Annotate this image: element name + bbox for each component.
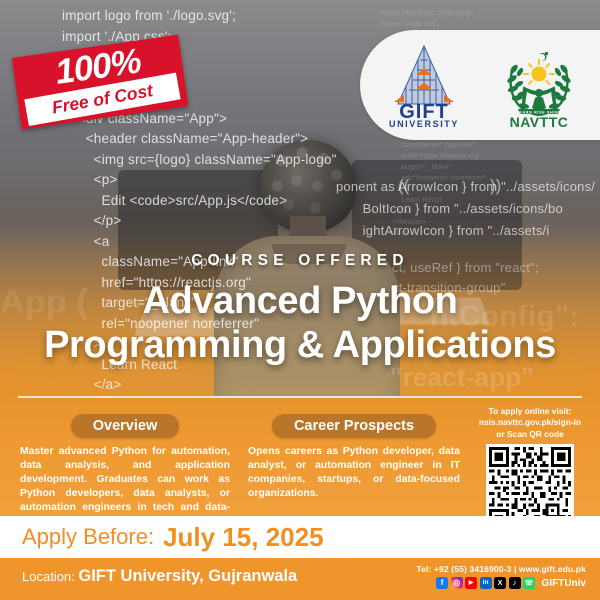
course-title-line-1: Advanced Python — [0, 279, 600, 323]
svg-text:UNIVERSITY: UNIVERSITY — [389, 119, 459, 128]
qr-block: To apply online visit: nsis.navttc.gov.p… — [470, 406, 590, 532]
apply-before-bar: Apply Before: July 15, 2025 — [0, 516, 600, 558]
qr-line-2: nsis.navttc.gov.pk/sign-in — [470, 417, 590, 428]
instagram-icon[interactable]: ◎ — [451, 577, 463, 589]
location-value: GIFT University, Gujranwala — [78, 567, 297, 585]
overview-column: Overview Master advanced Python for auto… — [20, 414, 230, 529]
youtube-icon[interactable]: ▶ — [465, 577, 477, 589]
title-block: COURSE OFFERED Advanced Python Programmi… — [0, 252, 600, 367]
career-column: Career Prospects Opens careers as Python… — [248, 414, 460, 501]
career-heading-pill: Career Prospects — [272, 414, 436, 438]
footer-bar: Location: GIFT University, Gujranwala Te… — [0, 558, 600, 600]
overview-heading-pill: Overview — [71, 414, 180, 438]
paren-close: )) — [490, 176, 501, 196]
paren-open: (( — [398, 176, 409, 196]
x-twitter-icon[interactable]: X — [494, 577, 506, 589]
linkedin-icon[interactable]: in — [480, 577, 492, 589]
logo-panel: GIFT UNIVERSITY — [360, 30, 600, 140]
apply-deadline-date: July 15, 2025 — [163, 522, 323, 553]
qr-line-3: or Scan QR code — [470, 429, 590, 440]
svg-text:NAVTTC: NAVTTC — [510, 114, 569, 129]
course-offered-eyebrow: COURSE OFFERED — [0, 252, 600, 270]
facebook-icon[interactable]: f — [436, 577, 448, 589]
tiktok-icon[interactable]: ♪ — [509, 577, 521, 589]
section-divider — [18, 396, 582, 398]
career-body: Opens careers as Python developer, data … — [248, 445, 460, 501]
qr-line-1: To apply online visit: — [470, 406, 590, 417]
social-links: f ◎ ▶ in X ♪ ☏ GIFTUniv — [416, 577, 586, 589]
contact-tel-website[interactable]: Tel: +92 (55) 3416900-3 | www.gift.edu.p… — [416, 564, 586, 574]
social-handle: GIFTUniv — [542, 578, 586, 589]
contact-block: Tel: +92 (55) 3416900-3 | www.gift.edu.p… — [416, 564, 586, 589]
apply-before-label: Apply Before: — [22, 524, 154, 550]
navttc-logo: LEARN RISE SHINE NAVTTC — [496, 41, 582, 129]
gift-university-logo: GIFT UNIVERSITY — [378, 42, 470, 128]
flyer-root: import logo from './logo.svg'; import '.… — [0, 0, 600, 600]
course-title-line-2: Programming & Applications — [0, 323, 600, 367]
location-label: Location: — [22, 569, 75, 584]
whatsapp-icon[interactable]: ☏ — [523, 577, 535, 589]
location-line: Location: GIFT University, Gujranwala — [22, 567, 297, 586]
